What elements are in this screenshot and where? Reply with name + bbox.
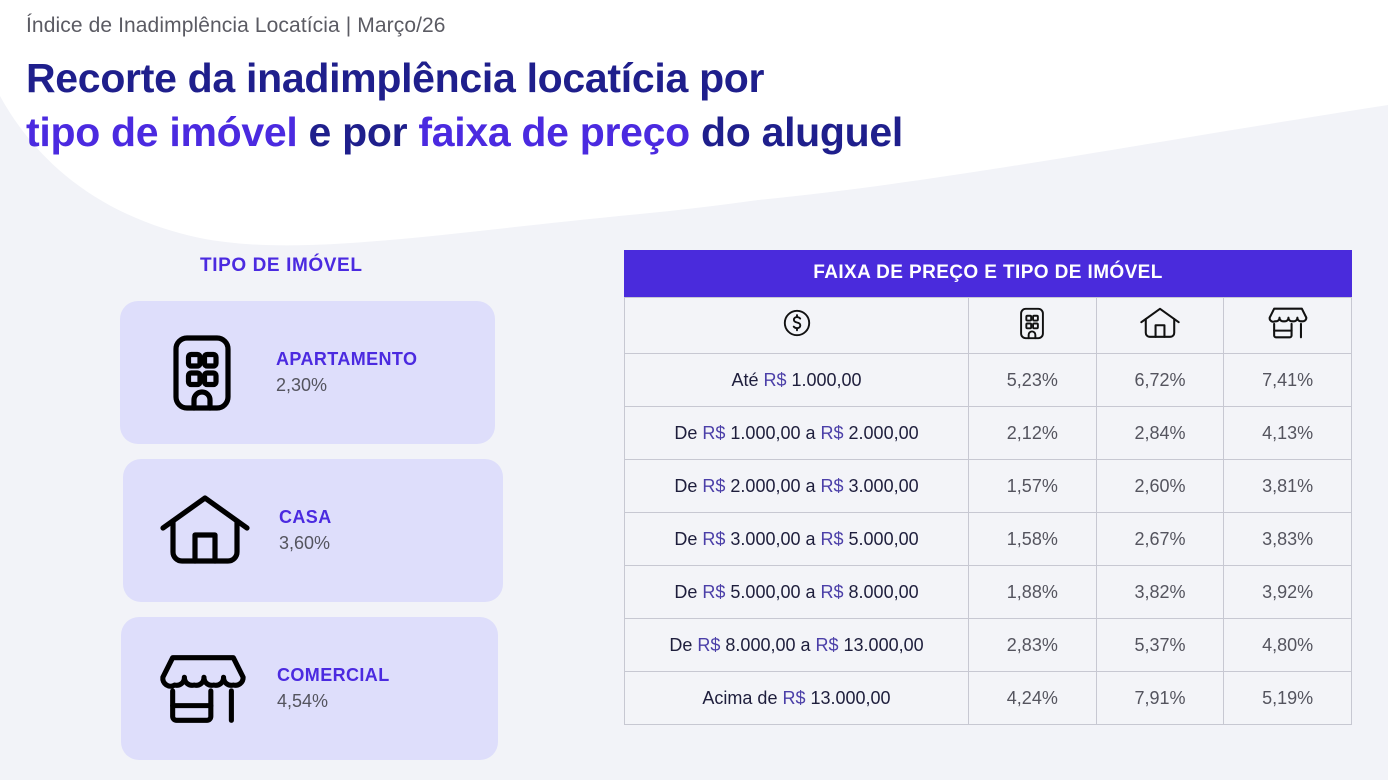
cell-comercial: 3,83% [1224,513,1352,566]
dollar-circle-icon [781,307,813,339]
column-header-apartamento [969,298,1097,354]
house-icon [159,494,251,568]
cell-apartamento: 2,12% [969,407,1097,460]
property-type-value: 2,30% [276,375,417,396]
cell-price-range: De R$ 1.000,00 a R$ 2.000,00 [625,407,969,460]
cell-casa: 3,82% [1096,566,1224,619]
cell-comercial: 4,80% [1224,619,1352,672]
cell-casa: 6,72% [1096,354,1224,407]
cell-casa: 2,84% [1096,407,1224,460]
house-icon [1140,307,1180,340]
cell-price-range: De R$ 8.000,00 a R$ 13.000,00 [625,619,969,672]
property-type-card-text: CASA 3,60% [279,507,332,554]
cell-price-range: De R$ 2.000,00 a R$ 3.000,00 [625,460,969,513]
cell-casa: 5,37% [1096,619,1224,672]
property-type-value: 3,60% [279,533,332,554]
table-row: De R$ 3.000,00 a R$ 5.000,001,58%2,67%3,… [625,513,1352,566]
apartment-icon [156,334,248,412]
property-type-card-text: COMERCIAL 4,54% [277,665,390,712]
cell-casa: 7,91% [1096,672,1224,725]
cell-apartamento: 4,24% [969,672,1097,725]
table-row: De R$ 8.000,00 a R$ 13.000,002,83%5,37%4… [625,619,1352,672]
price-range-table-head [625,298,1352,354]
price-range-table-panel: FAIXA DE PREÇO E TIPO DE IMÓVEL [624,250,1352,725]
table-row: De R$ 1.000,00 a R$ 2.000,002,12%2,84%4,… [625,407,1352,460]
cell-apartamento: 1,57% [969,460,1097,513]
cell-price-range: De R$ 3.000,00 a R$ 5.000,00 [625,513,969,566]
page-title-highlight-tipo: tipo de imóvel [26,109,297,155]
cell-comercial: 4,13% [1224,407,1352,460]
property-type-card-casa[interactable]: CASA 3,60% [123,459,503,602]
property-type-card-text: APARTAMENTO 2,30% [276,349,417,396]
store-icon [157,651,249,727]
cell-comercial: 3,92% [1224,566,1352,619]
cell-apartamento: 2,83% [969,619,1097,672]
property-type-panel: TIPO DE IMÓVEL APARTAMENTO 2,30% [120,255,520,775]
cell-casa: 2,67% [1096,513,1224,566]
page-title-tail: do aluguel [690,109,903,155]
cell-price-range: Acima de R$ 13.000,00 [625,672,969,725]
cell-comercial: 3,81% [1224,460,1352,513]
page-title-line-1: Recorte da inadimplência locatícia por [26,51,903,105]
price-range-table-body: Até R$ 1.000,005,23%6,72%7,41%De R$ 1.00… [625,354,1352,725]
report-eyebrow: Índice de Inadimplência Locatícia | Març… [26,14,903,38]
cell-apartamento: 1,58% [969,513,1097,566]
apartment-icon [1019,307,1045,340]
page-title-highlight-faixa: faixa de preço [418,109,690,155]
property-type-name: COMERCIAL [277,665,390,686]
property-type-card-apartamento[interactable]: APARTAMENTO 2,30% [120,301,495,444]
cell-comercial: 7,41% [1224,354,1352,407]
table-header-row [625,298,1352,354]
page-title: Recorte da inadimplência locatícia por t… [26,51,903,159]
cell-price-range: De R$ 5.000,00 a R$ 8.000,00 [625,566,969,619]
property-type-name: CASA [279,507,332,528]
column-header-comercial [1224,298,1352,354]
cell-price-range: Até R$ 1.000,00 [625,354,969,407]
page-title-line-1-text: Recorte da inadimplência locatícia por [26,55,764,101]
column-header-price-range [625,298,969,354]
cell-casa: 2,60% [1096,460,1224,513]
property-type-value: 4,54% [277,691,390,712]
property-type-panel-title: TIPO DE IMÓVEL [200,255,520,277]
table-row: De R$ 2.000,00 a R$ 3.000,001,57%2,60%3,… [625,460,1352,513]
table-row: Até R$ 1.000,005,23%6,72%7,41% [625,354,1352,407]
column-header-casa [1096,298,1224,354]
cell-comercial: 5,19% [1224,672,1352,725]
price-range-table: Até R$ 1.000,005,23%6,72%7,41%De R$ 1.00… [624,297,1352,725]
cell-apartamento: 5,23% [969,354,1097,407]
page-title-line-2: tipo de imóvel e por faixa de preço do a… [26,105,903,159]
price-range-table-title: FAIXA DE PREÇO E TIPO DE IMÓVEL [624,250,1352,297]
page-title-connector: e por [297,109,418,155]
cell-apartamento: 1,88% [969,566,1097,619]
store-icon [1267,306,1309,340]
table-row: Acima de R$ 13.000,004,24%7,91%5,19% [625,672,1352,725]
property-type-card-comercial[interactable]: COMERCIAL 4,54% [121,617,498,760]
property-type-name: APARTAMENTO [276,349,417,370]
table-row: De R$ 5.000,00 a R$ 8.000,001,88%3,82%3,… [625,566,1352,619]
page-header: Índice de Inadimplência Locatícia | Març… [26,14,903,159]
